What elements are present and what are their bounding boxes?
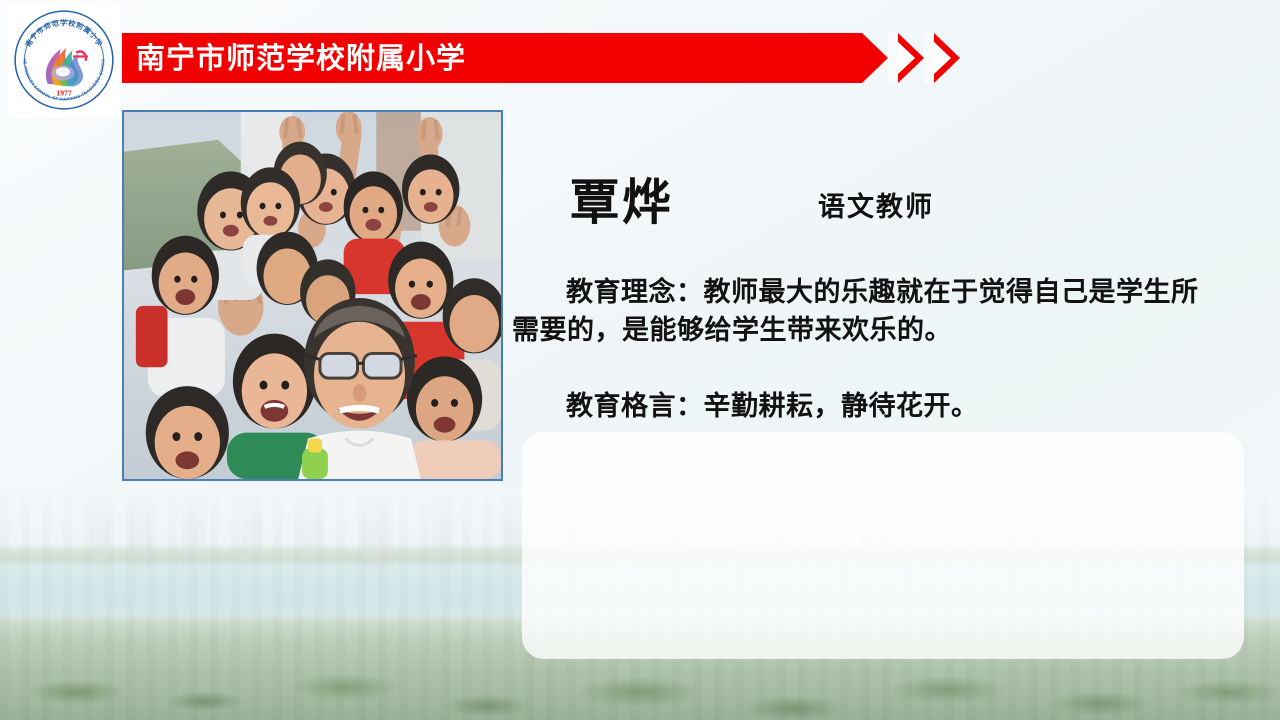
chevron-gap-1 — [888, 33, 898, 83]
slide-canvas: 南宁市师范学校附属小学 — [0, 0, 1280, 720]
chevron-gap-2 — [924, 33, 934, 83]
chevron-right-icon-1 — [898, 33, 924, 83]
header-banner-arrow-point — [862, 33, 888, 83]
teacher-role: 语文教师 — [818, 185, 934, 224]
content-placeholder-panel — [522, 432, 1244, 659]
school-logo-container: 南宁市师范学校附属小学 THE PRIMARY SCHOOL OF NANNIN… — [8, 2, 120, 118]
teacher-group-photo — [122, 110, 503, 481]
chevron-right-icon-2 — [934, 33, 960, 83]
education-philosophy-text: 教育理念：教师最大的乐趣就在于觉得自己是学生所需要的，是能够给学生带来欢乐的。 — [512, 274, 1212, 350]
header-banner: 南宁市师范学校附属小学 — [122, 33, 888, 83]
school-seal-logo: 南宁市师范学校附属小学 THE PRIMARY SCHOOL OF NANNIN… — [12, 8, 116, 112]
teacher-name: 覃烨 — [570, 163, 674, 234]
school-name-title: 南宁市师范学校附属小学 — [136, 33, 466, 83]
education-motto-text: 教育格言：辛勤耕耘，静待花开。 — [512, 388, 1212, 426]
svg-text:1977: 1977 — [56, 88, 72, 97]
